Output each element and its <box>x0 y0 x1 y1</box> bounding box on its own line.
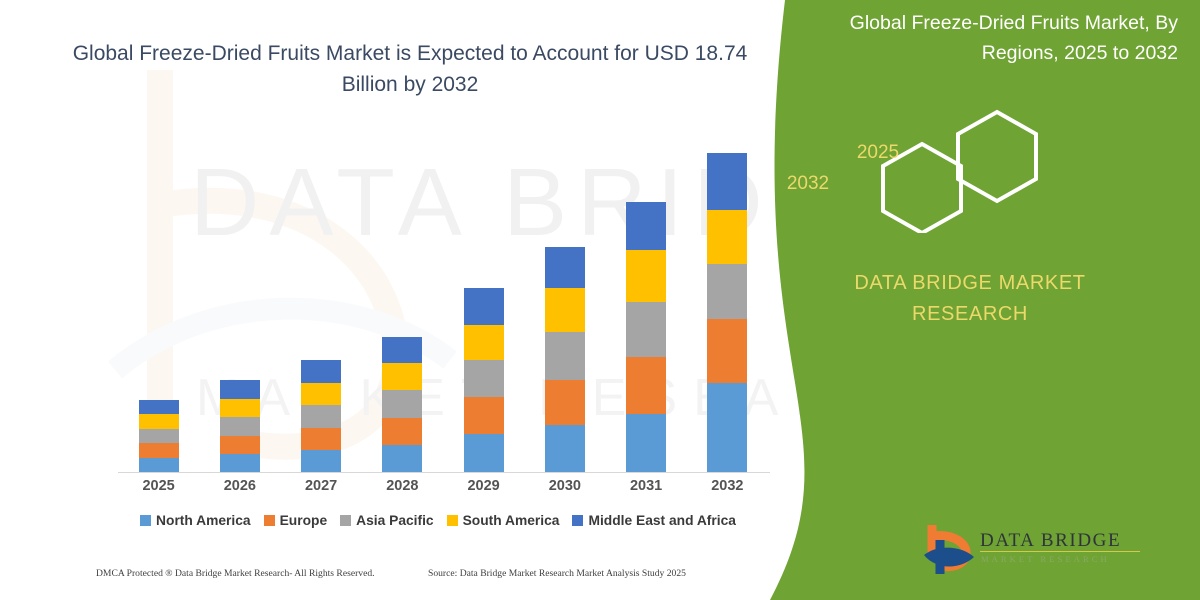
infographic-canvas: DATA BRIDGE MARKET RESEARCH Global Freez… <box>0 0 1200 600</box>
bar-segment <box>626 302 666 357</box>
panel-title: Global Freeze-Dried Fruits Market, By Re… <box>798 8 1178 68</box>
bar-segment <box>545 247 585 288</box>
hexagon-label-end-year: 2032 <box>768 173 848 195</box>
bar-segment <box>382 390 422 418</box>
x-axis-label: 2029 <box>447 478 521 494</box>
x-axis-label: 2030 <box>528 478 602 494</box>
bar-segment <box>464 397 504 434</box>
bar-segment <box>301 360 341 383</box>
bar-segment <box>545 425 585 472</box>
x-axis-label: 2027 <box>284 478 358 494</box>
bar-segment <box>382 337 422 363</box>
bar-segment <box>626 202 666 250</box>
legend-label: Middle East and Africa <box>588 513 735 528</box>
bar-segment <box>382 363 422 390</box>
bar-column <box>528 140 602 472</box>
bar-segment <box>382 445 422 472</box>
brand-panel: Global Freeze-Dried Fruits Market, By Re… <box>740 0 1200 600</box>
legend-label: Europe <box>280 513 328 528</box>
legend-item[interactable]: South America <box>447 513 560 528</box>
legend-swatch-icon <box>447 515 458 526</box>
logo-mark-icon <box>918 522 978 578</box>
legend-swatch-icon <box>264 515 275 526</box>
legend-swatch-icon <box>140 515 151 526</box>
brand-name-line1: DATA BRIDGE MARKET <box>854 272 1085 294</box>
bar-segment <box>139 443 179 457</box>
page-title: Global Freeze-Dried Fruits Market is Exp… <box>60 38 760 100</box>
x-axis-label: 2026 <box>203 478 277 494</box>
bar-segment <box>139 458 179 472</box>
bar-column <box>122 140 196 472</box>
bar-segment <box>626 250 666 302</box>
bar-segment <box>139 414 179 428</box>
bar-segment <box>464 325 504 360</box>
x-axis-label: 2028 <box>365 478 439 494</box>
bar-segment <box>139 429 179 443</box>
legend-item[interactable]: Middle East and Africa <box>572 513 735 528</box>
bar-segment <box>545 288 585 332</box>
stacked-bar <box>626 202 666 472</box>
brand-name-line2: RESEARCH <box>912 303 1028 325</box>
bar-column <box>203 140 277 472</box>
bar-segment <box>545 380 585 425</box>
bar-chart-plot-area <box>118 140 768 472</box>
bar-column <box>609 140 683 472</box>
bar-segment <box>464 360 504 398</box>
company-logo: DATA BRIDGE MARKET RESEARCH <box>918 522 1158 584</box>
footer-copyright: DMCA Protected ® Data Bridge Market Rese… <box>96 568 375 579</box>
stacked-bar <box>139 400 179 472</box>
brand-name: DATA BRIDGE MARKET RESEARCH <box>770 268 1170 330</box>
bar-segment <box>220 436 260 454</box>
bar-segment <box>382 418 422 445</box>
bar-column <box>365 140 439 472</box>
legend-label: Asia Pacific <box>356 513 433 528</box>
bar-segment <box>220 454 260 472</box>
bar-segment <box>464 434 504 472</box>
stacked-bar <box>464 288 504 472</box>
bar-segment <box>220 399 260 417</box>
hexagon-shapes <box>860 108 1080 233</box>
stacked-bar <box>545 247 585 472</box>
bar-segment <box>301 383 341 405</box>
bar-segment <box>301 428 341 450</box>
legend-swatch-icon <box>572 515 583 526</box>
bar-segment <box>301 450 341 472</box>
bar-segment <box>464 288 504 325</box>
bar-segment <box>220 417 260 436</box>
bar-segment <box>626 357 666 414</box>
x-axis-tick-labels: 20252026202720282029203020312032 <box>118 478 768 494</box>
footer-source: Source: Data Bridge Market Research Mark… <box>428 568 686 579</box>
bar-segment <box>301 405 341 428</box>
logo-divider <box>980 551 1140 552</box>
legend-item[interactable]: Europe <box>264 513 328 528</box>
bar-column <box>447 140 521 472</box>
bar-column <box>284 140 358 472</box>
logo-tagline: MARKET RESEARCH <box>981 554 1110 564</box>
x-axis-label: 2031 <box>609 478 683 494</box>
legend-label: North America <box>156 513 251 528</box>
stacked-bar <box>220 380 260 472</box>
legend-item[interactable]: Asia Pacific <box>340 513 433 528</box>
legend-swatch-icon <box>340 515 351 526</box>
stacked-bar <box>301 360 341 472</box>
footer: DMCA Protected ® Data Bridge Market Rese… <box>0 568 800 590</box>
stacked-bar <box>382 337 422 472</box>
bar-segment <box>545 332 585 380</box>
bar-segment <box>139 400 179 414</box>
hexagon-badges <box>860 108 1080 233</box>
hexagon-2025-outline <box>958 112 1036 201</box>
chart-legend: North AmericaEuropeAsia PacificSouth Ame… <box>108 513 768 528</box>
x-axis-line <box>118 472 770 473</box>
hexagon-label-start-year: 2025 <box>838 142 918 164</box>
logo-wordmark: DATA BRIDGE <box>980 530 1121 552</box>
legend-item[interactable]: North America <box>140 513 251 528</box>
x-axis-label: 2025 <box>122 478 196 494</box>
bar-segment <box>626 414 666 472</box>
legend-label: South America <box>463 513 560 528</box>
bar-segment <box>220 380 260 399</box>
